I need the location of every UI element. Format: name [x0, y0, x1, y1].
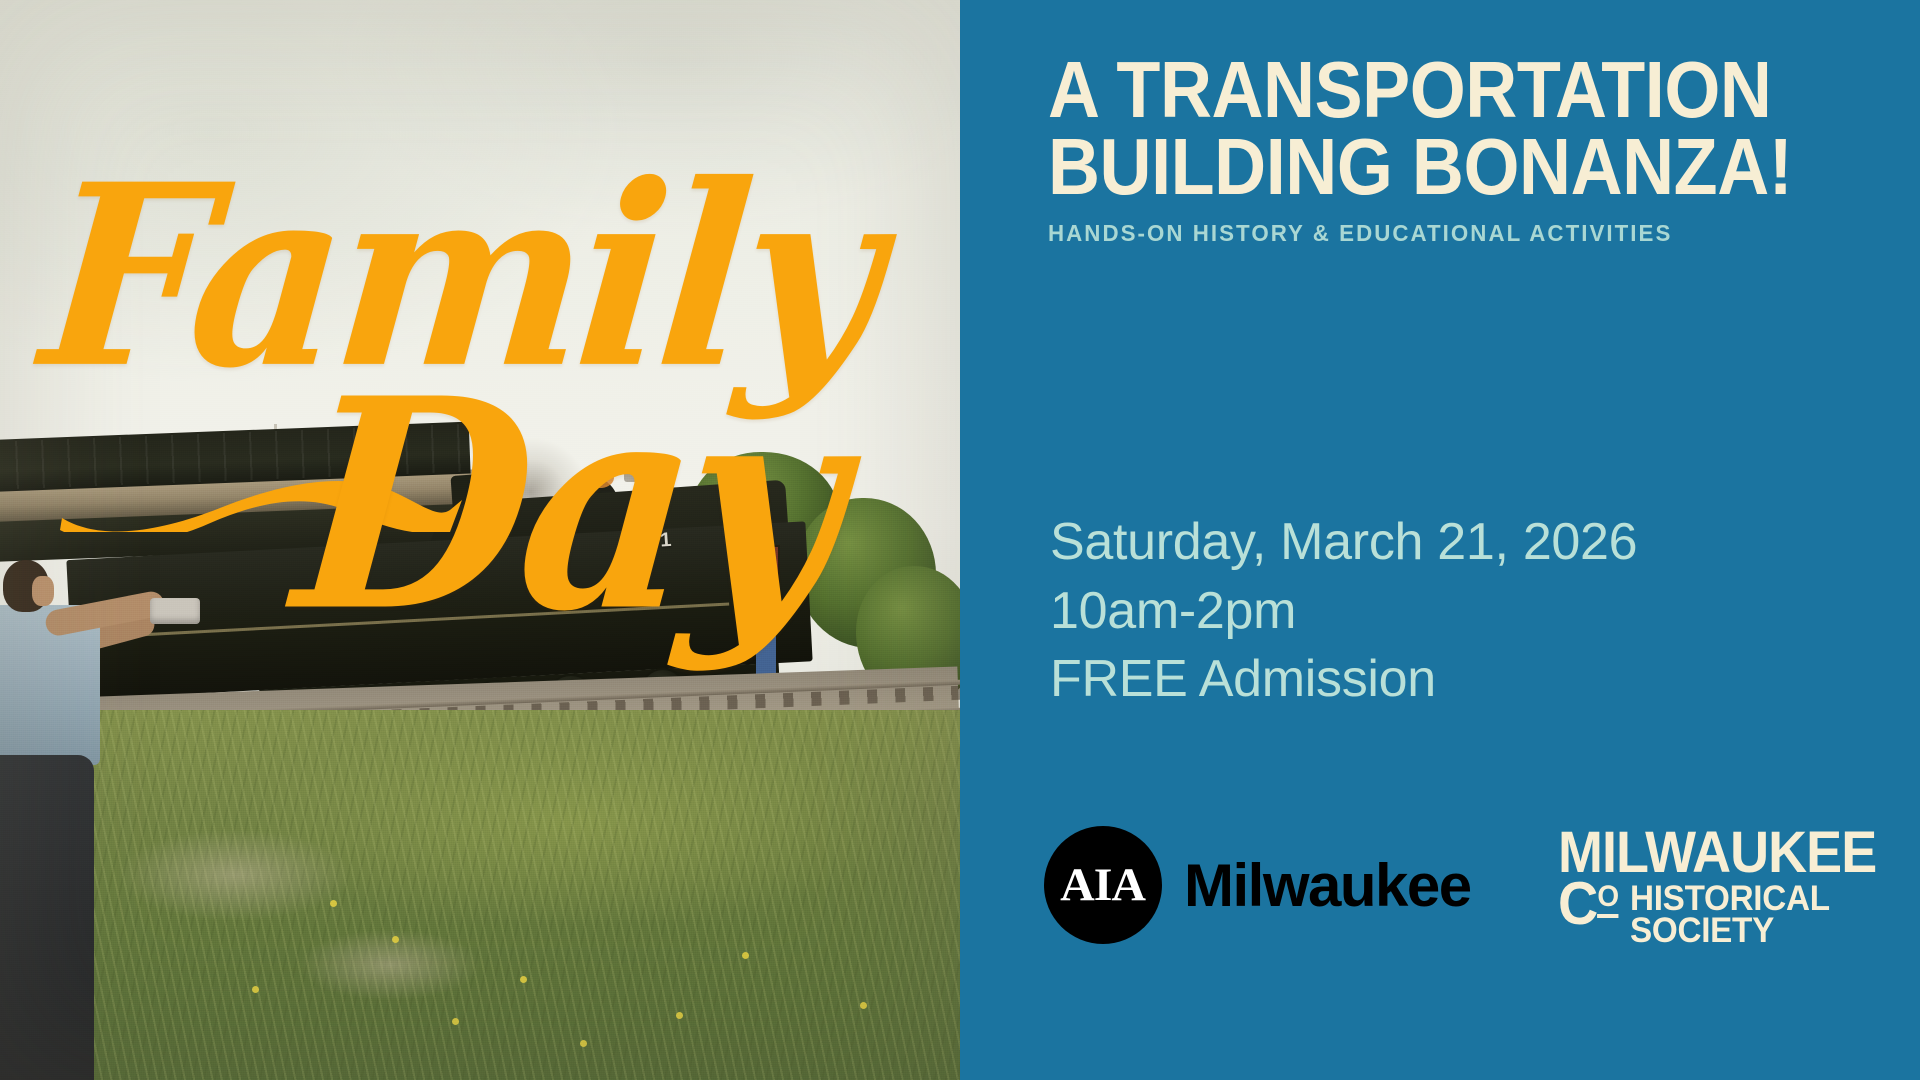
event-promo-poster: 261	[0, 0, 1920, 1080]
signal-box	[760, 545, 780, 587]
mchs-county-abbrev: C O	[1558, 880, 1618, 928]
aia-milwaukee-logo: AIA Milwaukee	[1044, 826, 1471, 944]
headline-block: A TRANSPORTATION BUILDING BONANZA! HANDS…	[1048, 52, 1868, 247]
event-details-block: Saturday, March 21, 2026 10am-2pm FREE A…	[1050, 508, 1830, 714]
wildflower	[330, 900, 337, 907]
wildflower	[580, 1040, 587, 1047]
milwaukee-county-historical-society-logo: MILWAUKEE C O HISTORICAL SOCIETY	[1558, 828, 1868, 947]
camera	[150, 598, 200, 624]
wildflower	[520, 976, 527, 983]
headline-line-1: A TRANSPORTATION	[1048, 52, 1786, 129]
locomotive-number: 261	[635, 529, 673, 554]
wildflower	[742, 952, 749, 959]
mchs-line-society: SOCIETY	[1630, 915, 1830, 947]
sponsor-logos: AIA Milwaukee MILWAUKEE C O HISTORICAL S…	[1044, 812, 1864, 962]
photo-panel: 261	[0, 0, 960, 1080]
mchs-name-stack: HISTORICAL SOCIETY	[1630, 883, 1840, 947]
subheadline: HANDS-ON HISTORY & EDUCATIONAL ACTIVITIE…	[1048, 220, 1843, 247]
headline-line-2: BUILDING BONANZA!	[1048, 129, 1786, 206]
mchs-line-milwaukee: MILWAUKEE	[1558, 828, 1846, 878]
aia-wordmark: Milwaukee	[1184, 851, 1471, 920]
lamp-head	[624, 470, 650, 482]
wildflower	[860, 1002, 867, 1009]
event-date: Saturday, March 21, 2026	[1050, 508, 1830, 577]
boy-face	[32, 576, 54, 606]
event-time: 10am-2pm	[1050, 577, 1830, 646]
wildflower	[452, 1018, 459, 1025]
mchs-lower-lockup: C O HISTORICAL SOCIETY	[1558, 880, 1868, 947]
wildflower	[252, 986, 259, 993]
vintage-railroad-photo: 261	[0, 0, 960, 1080]
dirt-patch	[300, 930, 480, 1000]
info-panel: A TRANSPORTATION BUILDING BONANZA! HANDS…	[960, 0, 1920, 1080]
wildflower	[676, 1012, 683, 1019]
boy-legs	[0, 755, 94, 1080]
aia-circle-mark: AIA	[1044, 826, 1162, 944]
mchs-co-superscript-o: O	[1597, 882, 1618, 918]
railroad-worker-head	[760, 620, 774, 634]
dirt-patch	[120, 830, 350, 920]
aia-monogram: AIA	[1061, 858, 1146, 912]
mchs-co-c: C	[1558, 880, 1597, 928]
wildflower	[392, 936, 399, 943]
event-admission: FREE Admission	[1050, 645, 1830, 714]
